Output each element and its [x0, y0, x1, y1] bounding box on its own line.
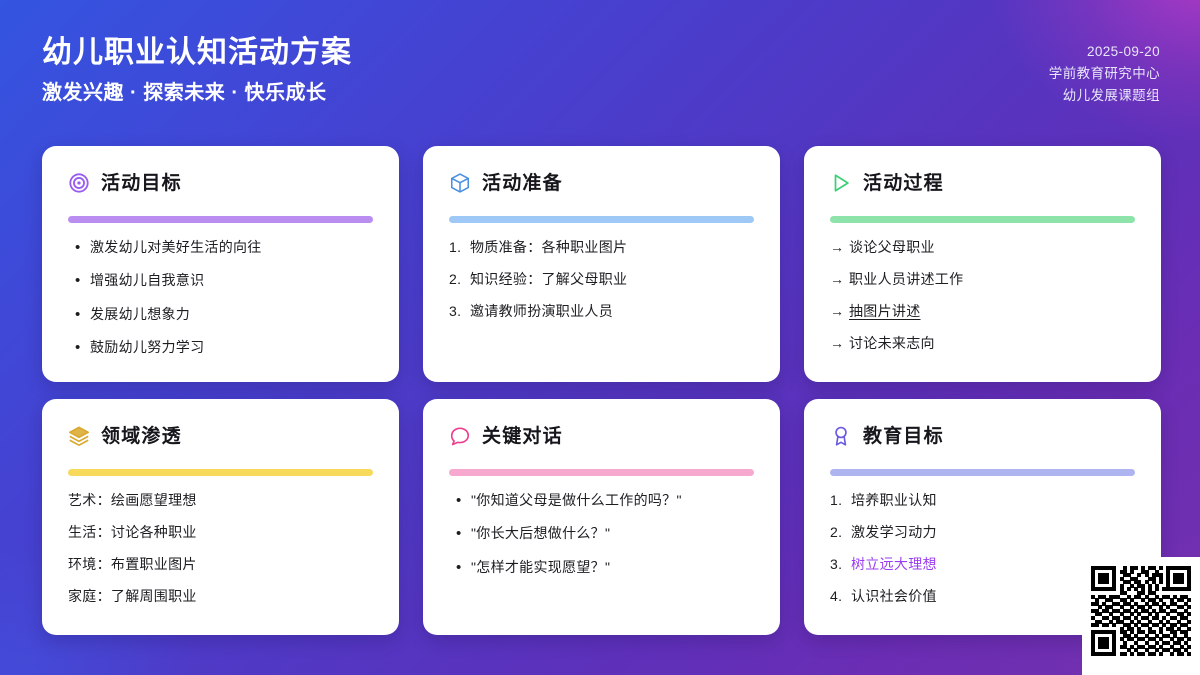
- list-marker-arrow: →: [830, 238, 849, 257]
- card-title: 活动过程: [863, 174, 944, 193]
- list-item[interactable]: 3.邀请教师扮演职业人员: [449, 302, 754, 321]
- card-header: 活动目标: [68, 168, 373, 198]
- play-icon: [830, 172, 852, 194]
- list-marker-arrow: →: [830, 334, 849, 353]
- card-1[interactable]: 活动目标•激发幼儿对美好生活的向往•增强幼儿自我意识•发展幼儿想象力•鼓励幼儿努…: [42, 146, 399, 382]
- list-item[interactable]: •"你长大后想做什么？": [449, 524, 754, 544]
- qr-code-icon: [1091, 566, 1191, 666]
- header-meta-block: 2025-09-20 学前教育研究中心 幼儿发展课题组: [1049, 34, 1160, 107]
- slide-header: 幼儿职业认知活动方案 激发兴趣 · 探索未来 · 快乐成长 2025-09-20…: [0, 0, 1200, 135]
- list-item[interactable]: 艺术：绘画愿望理想: [68, 491, 373, 510]
- page-subtitle: 激发兴趣 · 探索未来 · 快乐成长: [42, 78, 352, 108]
- card-2[interactable]: 活动准备1.物质准备：各种职业图片2.知识经验：了解父母职业3.邀请教师扮演职业…: [423, 146, 780, 382]
- list-marker-number: 1.: [830, 491, 851, 510]
- meta-date: 2025-09-20: [1087, 41, 1160, 63]
- list-item[interactable]: →讨论未来志向: [830, 334, 1135, 353]
- list-item[interactable]: →职业人员讲述工作: [830, 270, 1135, 289]
- meta-team: 幼儿发展课题组: [1063, 85, 1160, 107]
- card-body: •"你知道父母是做什么工作的吗？"•"你长大后想做什么？"•"怎样才能实现愿望？…: [449, 491, 754, 617]
- list-marker-bullet: •: [68, 338, 90, 358]
- qr-code-panel[interactable]: [1082, 557, 1200, 675]
- header-title-block: 幼儿职业认知活动方案 激发兴趣 · 探索未来 · 快乐成长: [42, 34, 352, 108]
- card-body: •激发幼儿对美好生活的向往•增强幼儿自我意识•发展幼儿想象力•鼓励幼儿努力学习: [68, 238, 373, 364]
- list-item-text: 抽图片讲述: [849, 302, 1135, 321]
- list-item[interactable]: →谈论父母职业: [830, 238, 1135, 257]
- list-item-text: 发展幼儿想象力: [90, 305, 373, 324]
- list-item-text: 知识经验：了解父母职业: [470, 270, 754, 289]
- list-item[interactable]: 环境：布置职业图片: [68, 555, 373, 574]
- list-marker-arrow: →: [830, 302, 849, 321]
- card-title: 关键对话: [482, 427, 563, 446]
- list-marker-number: 4.: [830, 587, 851, 606]
- meta-organization: 学前教育研究中心: [1049, 63, 1160, 85]
- list-item[interactable]: •"怎样才能实现愿望？": [449, 558, 754, 578]
- list-marker-number: 2.: [830, 523, 851, 542]
- card-header: 教育目标: [830, 421, 1135, 451]
- list-item[interactable]: •发展幼儿想象力: [68, 305, 373, 325]
- card-divider: [449, 216, 754, 223]
- list-marker-number: 3.: [830, 555, 851, 574]
- list-item-text: 环境：布置职业图片: [68, 555, 373, 574]
- card-3[interactable]: 活动过程→谈论父母职业→职业人员讲述工作→抽图片讲述→讨论未来志向: [804, 146, 1161, 382]
- box-icon: [449, 172, 471, 194]
- list-item[interactable]: 2.知识经验：了解父母职业: [449, 270, 754, 289]
- list-item-text: 培养职业认知: [851, 491, 1135, 510]
- list-item-text: 物质准备：各种职业图片: [470, 238, 754, 257]
- card-title: 活动目标: [101, 174, 182, 193]
- list-item[interactable]: •"你知道父母是做什么工作的吗？": [449, 491, 754, 511]
- card-header: 领域渗透: [68, 421, 373, 451]
- list-item-text: 讨论未来志向: [849, 334, 1135, 353]
- card-body: 1.物质准备：各种职业图片2.知识经验：了解父母职业3.邀请教师扮演职业人员: [449, 238, 754, 364]
- target-icon: [68, 172, 90, 194]
- list-item-text: 职业人员讲述工作: [849, 270, 1135, 289]
- list-item[interactable]: 生活：讨论各种职业: [68, 523, 373, 542]
- card-title: 教育目标: [863, 427, 944, 446]
- list-item-text: "你长大后想做什么？": [471, 524, 754, 543]
- list-marker-number: 3.: [449, 302, 470, 321]
- layers-icon: [68, 425, 90, 447]
- card-4[interactable]: 领域渗透艺术：绘画愿望理想生活：讨论各种职业环境：布置职业图片家庭：了解周围职业: [42, 399, 399, 635]
- card-header: 活动准备: [449, 168, 754, 198]
- slide-root: 幼儿职业认知活动方案 激发兴趣 · 探索未来 · 快乐成长 2025-09-20…: [0, 0, 1200, 675]
- list-item-text: 鼓励幼儿努力学习: [90, 338, 373, 357]
- card-body: →谈论父母职业→职业人员讲述工作→抽图片讲述→讨论未来志向: [830, 238, 1135, 364]
- award-icon: [830, 425, 852, 447]
- list-item-text: 邀请教师扮演职业人员: [470, 302, 754, 321]
- list-marker-number: 1.: [449, 238, 470, 257]
- list-item-text: 激发幼儿对美好生活的向往: [90, 238, 373, 257]
- list-item-text: 艺术：绘画愿望理想: [68, 491, 373, 510]
- list-item-text: 激发学习动力: [851, 523, 1135, 542]
- list-marker-bullet: •: [449, 524, 471, 544]
- list-item[interactable]: 1.培养职业认知: [830, 491, 1135, 510]
- list-item[interactable]: •激发幼儿对美好生活的向往: [68, 238, 373, 258]
- page-title: 幼儿职业认知活动方案: [42, 34, 352, 72]
- list-item-text: 谈论父母职业: [849, 238, 1135, 257]
- list-marker-bullet: •: [449, 558, 471, 578]
- card-body: 艺术：绘画愿望理想生活：讨论各种职业环境：布置职业图片家庭：了解周围职业: [68, 491, 373, 617]
- card-divider: [68, 216, 373, 223]
- list-item[interactable]: 1.物质准备：各种职业图片: [449, 238, 754, 257]
- card-title: 领域渗透: [101, 427, 182, 446]
- list-item[interactable]: •增强幼儿自我意识: [68, 271, 373, 291]
- card-divider: [830, 216, 1135, 223]
- card-divider: [68, 469, 373, 476]
- list-marker-number: 2.: [449, 270, 470, 289]
- list-item[interactable]: 2.激发学习动力: [830, 523, 1135, 542]
- card-divider: [449, 469, 754, 476]
- speech-bubble-icon: [449, 425, 471, 447]
- list-marker-bullet: •: [68, 238, 90, 258]
- list-item-text: "你知道父母是做什么工作的吗？": [471, 491, 754, 510]
- list-marker-bullet: •: [68, 271, 90, 291]
- list-marker-arrow: →: [830, 270, 849, 289]
- list-item-text: 家庭：了解周围职业: [68, 587, 373, 606]
- card-header: 活动过程: [830, 168, 1135, 198]
- list-item[interactable]: 家庭：了解周围职业: [68, 587, 373, 606]
- card-divider: [830, 469, 1135, 476]
- list-marker-bullet: •: [68, 305, 90, 325]
- card-title: 活动准备: [482, 174, 563, 193]
- list-marker-bullet: •: [449, 491, 471, 511]
- card-grid: 活动目标•激发幼儿对美好生活的向往•增强幼儿自我意识•发展幼儿想象力•鼓励幼儿努…: [42, 146, 1159, 635]
- list-item-text: 生活：讨论各种职业: [68, 523, 373, 542]
- card-header: 关键对话: [449, 421, 754, 451]
- list-item[interactable]: •鼓励幼儿努力学习: [68, 338, 373, 358]
- list-item-text: 增强幼儿自我意识: [90, 271, 373, 290]
- card-5[interactable]: 关键对话•"你知道父母是做什么工作的吗？"•"你长大后想做什么？"•"怎样才能实…: [423, 399, 780, 635]
- list-item[interactable]: →抽图片讲述: [830, 302, 1135, 321]
- list-item-text: "怎样才能实现愿望？": [471, 558, 754, 577]
